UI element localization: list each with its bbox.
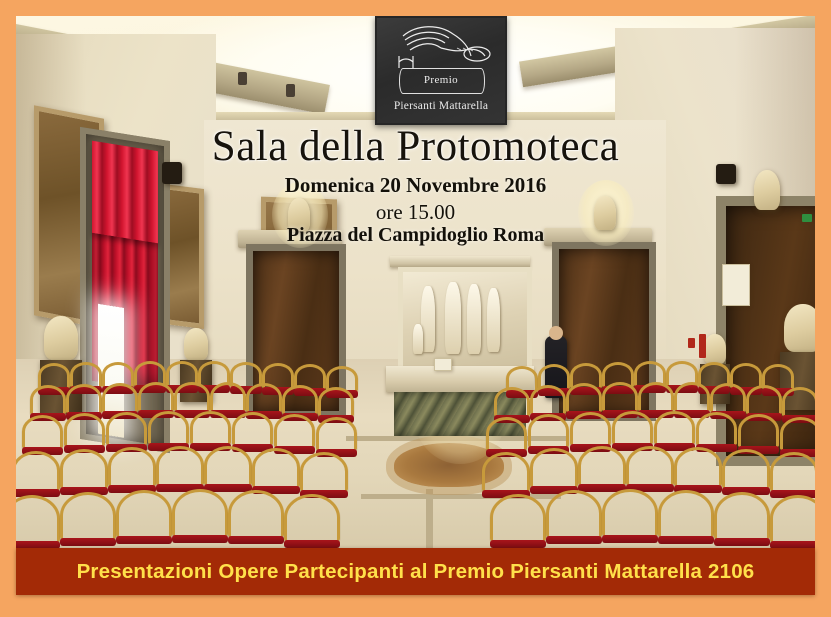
chair [274, 414, 315, 447]
relief-figure [421, 286, 435, 352]
marble-bust [784, 304, 815, 352]
chair [172, 489, 228, 536]
chair [770, 495, 815, 542]
chair [546, 490, 602, 537]
chair [174, 382, 210, 411]
chair [64, 413, 105, 446]
chair [578, 446, 626, 485]
chair [658, 490, 714, 537]
fire-extinguisher [699, 334, 706, 358]
chair [16, 451, 60, 490]
chair [782, 387, 815, 416]
chair [300, 452, 348, 491]
relief-figure [467, 284, 481, 354]
chair [66, 384, 102, 413]
chair-rows [16, 359, 815, 549]
chair [282, 385, 318, 414]
chair [780, 417, 815, 450]
bottom-banner: Presentazioni Opere Partecipanti al Prem… [16, 548, 815, 595]
chair [318, 387, 354, 416]
chair [108, 447, 156, 486]
chair [570, 412, 611, 445]
chair [60, 492, 116, 539]
banner-text: Presentazioni Opere Partecipanti al Prem… [77, 560, 755, 584]
logo-scroll-shape [399, 68, 485, 94]
chair [528, 414, 569, 447]
chair [22, 415, 63, 448]
chair [190, 411, 231, 444]
relief-figure [445, 282, 461, 354]
chair [710, 383, 746, 412]
chair [654, 411, 695, 444]
person-head [549, 326, 563, 340]
chair [284, 494, 340, 541]
chair [232, 412, 273, 445]
chair [696, 412, 737, 445]
chair [626, 446, 674, 485]
chair [674, 382, 710, 411]
event-date: Domenica 20 Novembre 2016 [16, 173, 815, 198]
relief-figure [487, 288, 500, 352]
chair [102, 383, 138, 412]
marble-bust [44, 316, 78, 360]
chair [156, 446, 204, 485]
chair [252, 448, 300, 487]
marble-bust [184, 328, 208, 360]
chair [60, 449, 108, 488]
chair [30, 385, 66, 414]
chair [246, 383, 282, 412]
chair [204, 446, 252, 485]
monument-cornice [390, 256, 530, 267]
chair [38, 363, 70, 388]
event-venue: Piazza del Campidoglio Roma [16, 224, 815, 247]
chair [602, 382, 638, 411]
chair [16, 495, 60, 542]
chair [770, 452, 815, 491]
track-light [286, 84, 295, 97]
event-time: ore 15.00 [16, 200, 815, 225]
chair [612, 411, 653, 444]
chair [316, 417, 357, 450]
chair [530, 385, 566, 414]
track-light [238, 72, 247, 85]
chair [714, 492, 770, 539]
logo-name-text: Piersanti Mattarella [377, 100, 505, 112]
chair [746, 385, 782, 414]
chair [486, 417, 527, 450]
chair [148, 411, 189, 444]
chair [106, 412, 147, 445]
chair [228, 490, 284, 537]
relief-figure [413, 324, 423, 354]
chair [138, 382, 174, 411]
premio-logo: Premio Piersanti Mattarella [375, 16, 507, 125]
hall-photograph: Premio Piersanti Mattarella Sala della P… [16, 16, 815, 549]
chair [494, 387, 530, 416]
chair [674, 447, 722, 486]
event-poster: Premio Piersanti Mattarella Sala della P… [0, 0, 831, 617]
wall-plaque [722, 264, 750, 306]
chair [530, 448, 578, 487]
chair [210, 382, 246, 411]
chair [566, 383, 602, 412]
chair [738, 414, 779, 447]
chair [602, 489, 658, 536]
chair [482, 452, 530, 491]
chair [116, 490, 172, 537]
chair [490, 494, 546, 541]
chair [638, 382, 674, 411]
chair [722, 449, 770, 488]
fire-alarm [688, 338, 695, 348]
event-title: Sala della Protomoteca [16, 122, 815, 171]
